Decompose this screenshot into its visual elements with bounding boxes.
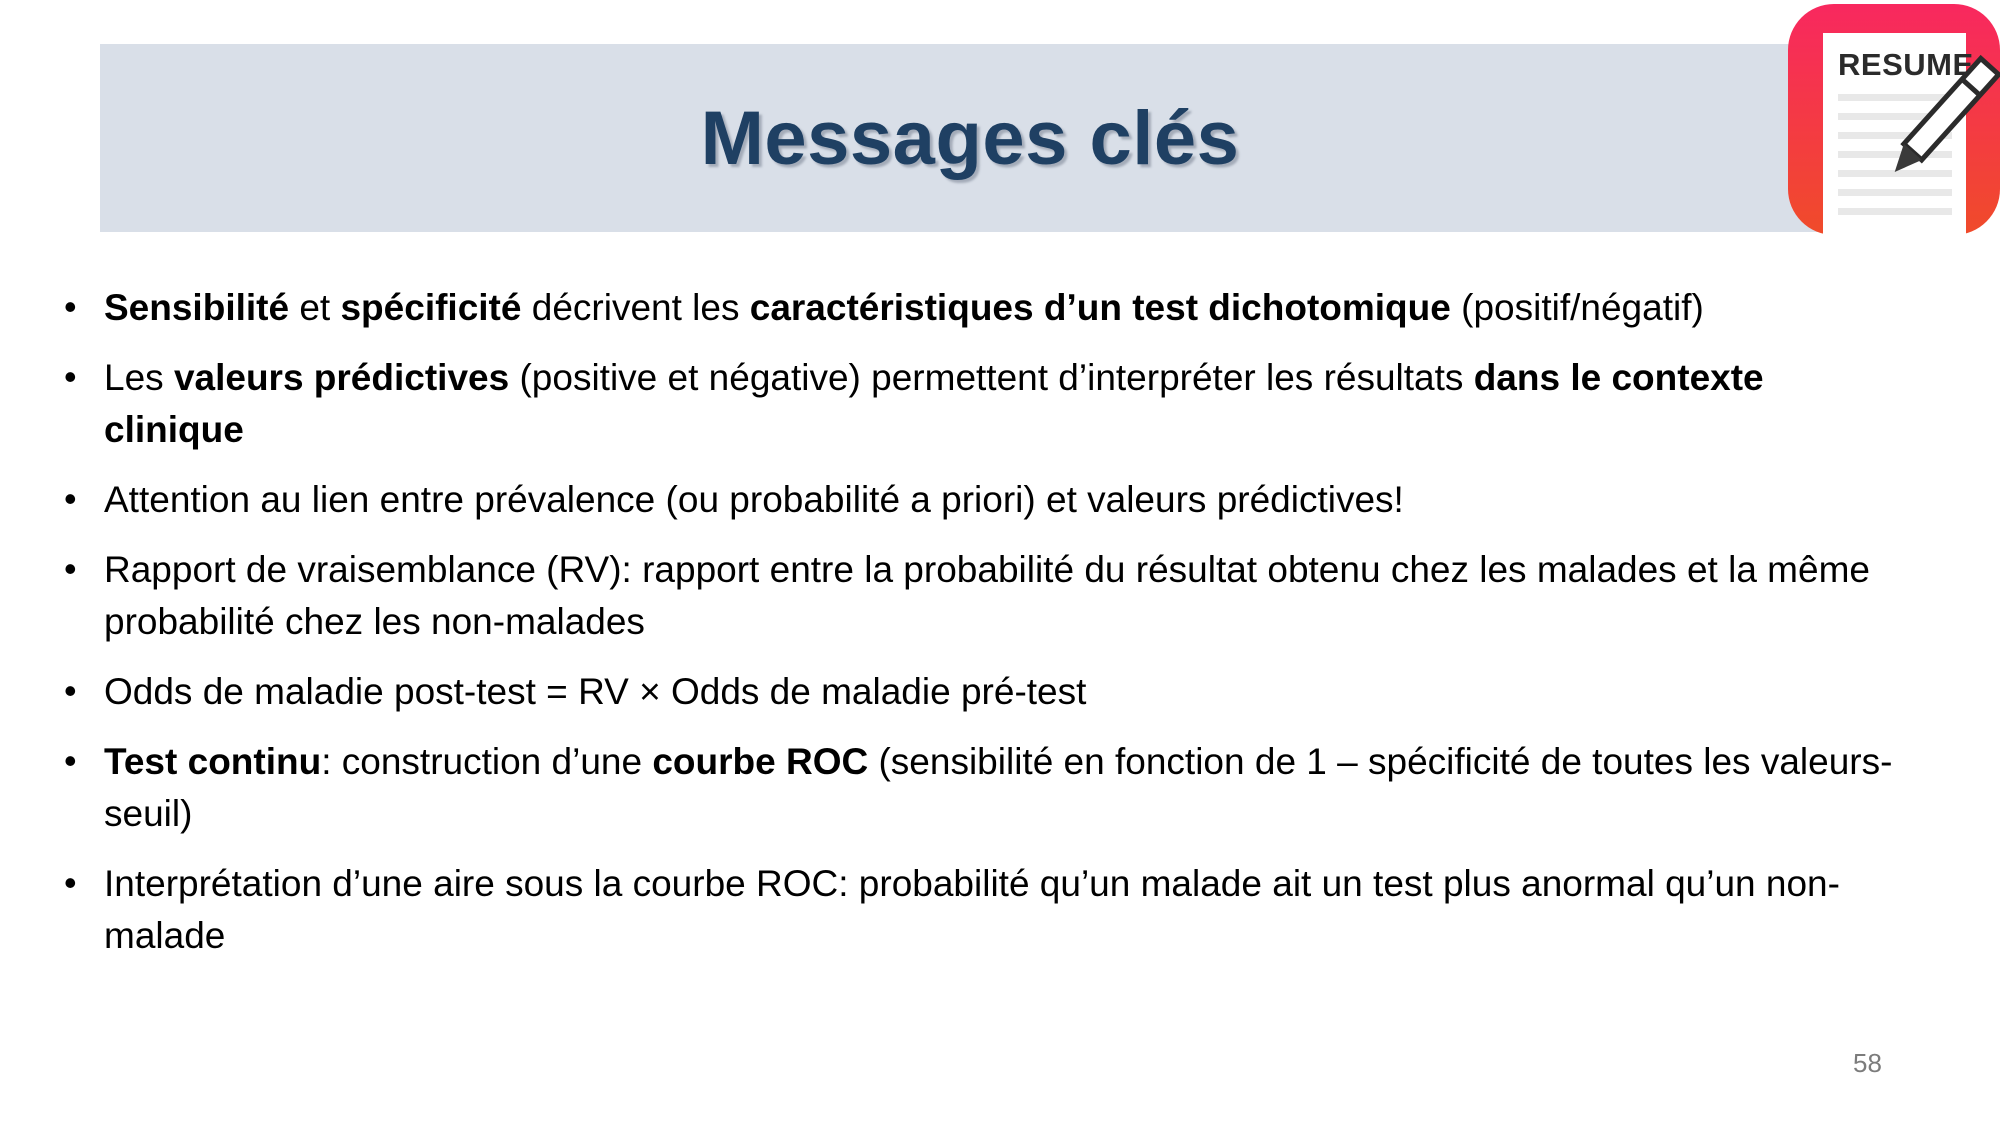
bullet-marker-icon: • — [56, 858, 104, 908]
bullet-text: Rapport de vraisemblance (RV): rapport e… — [104, 544, 1904, 648]
bullet-marker-icon: • — [56, 544, 104, 594]
bullet-run: Odds de maladie post-test = RV × Odds de… — [104, 671, 1086, 712]
bullet-list: •Sensibilité et spécificité décrivent le… — [56, 282, 1956, 980]
bullet-aire-sous-courbe: •Interprétation d’une aire sous la courb… — [56, 858, 1956, 962]
bullet-run: Interprétation d’une aire sous la courbe… — [104, 863, 1840, 956]
bullet-prevalence: •Attention au lien entre prévalence (ou … — [56, 474, 1956, 526]
bullet-run-bold: valeurs prédictives — [174, 357, 509, 398]
bullet-sensibilite-specificite: •Sensibilité et spécificité décrivent le… — [56, 282, 1956, 334]
bullet-text: Odds de maladie post-test = RV × Odds de… — [104, 666, 1086, 718]
bullet-test-continu: •Test continu: construction d’une courbe… — [56, 736, 1956, 840]
page-number: 58 — [1853, 1048, 1882, 1079]
bullet-text: Sensibilité et spécificité décrivent les… — [104, 282, 1704, 334]
bullet-run-bold: spécificité — [340, 287, 521, 328]
resume-document-icon: RESUME — [1768, 2, 2000, 235]
bullet-marker-icon: • — [56, 352, 104, 402]
bullet-text: Interprétation d’une aire sous la courbe… — [104, 858, 1904, 962]
bullet-text: Test continu: construction d’une courbe … — [104, 736, 1904, 840]
bullet-marker-icon: • — [56, 736, 104, 786]
bullet-run: Rapport de vraisemblance (RV): rapport e… — [104, 549, 1870, 642]
bullet-text: Attention au lien entre prévalence (ou p… — [104, 474, 1404, 526]
bullet-run: Les — [104, 357, 174, 398]
bullet-marker-icon: • — [56, 666, 104, 716]
bullet-run: (positif/négatif) — [1451, 287, 1704, 328]
bullet-run: et — [289, 287, 340, 328]
bullet-run: : construction d’une — [321, 741, 652, 782]
svg-text:RESUME: RESUME — [1838, 47, 1974, 82]
bullet-run-bold: courbe ROC — [652, 741, 868, 782]
bullet-run: (positive et négative) permettent d’inte… — [509, 357, 1474, 398]
bullet-run-bold: Sensibilité — [104, 287, 289, 328]
page-title: Messages clés — [100, 44, 1840, 232]
bullet-marker-icon: • — [56, 474, 104, 524]
bullet-run-bold: Test continu — [104, 741, 321, 782]
bullet-rapport-vraisemblance: •Rapport de vraisemblance (RV): rapport … — [56, 544, 1956, 648]
bullet-run: décrivent les — [521, 287, 749, 328]
bullet-run: Attention au lien entre prévalence (ou p… — [104, 479, 1404, 520]
bullet-marker-icon: • — [56, 282, 104, 332]
bullet-valeurs-predictives: •Les valeurs prédictives (positive et né… — [56, 352, 1956, 456]
bullet-odds-post-test: •Odds de maladie post-test = RV × Odds d… — [56, 666, 1956, 718]
bullet-text: Les valeurs prédictives (positive et nég… — [104, 352, 1904, 456]
bullet-run-bold: caractéristiques d’un test dichotomique — [750, 287, 1451, 328]
